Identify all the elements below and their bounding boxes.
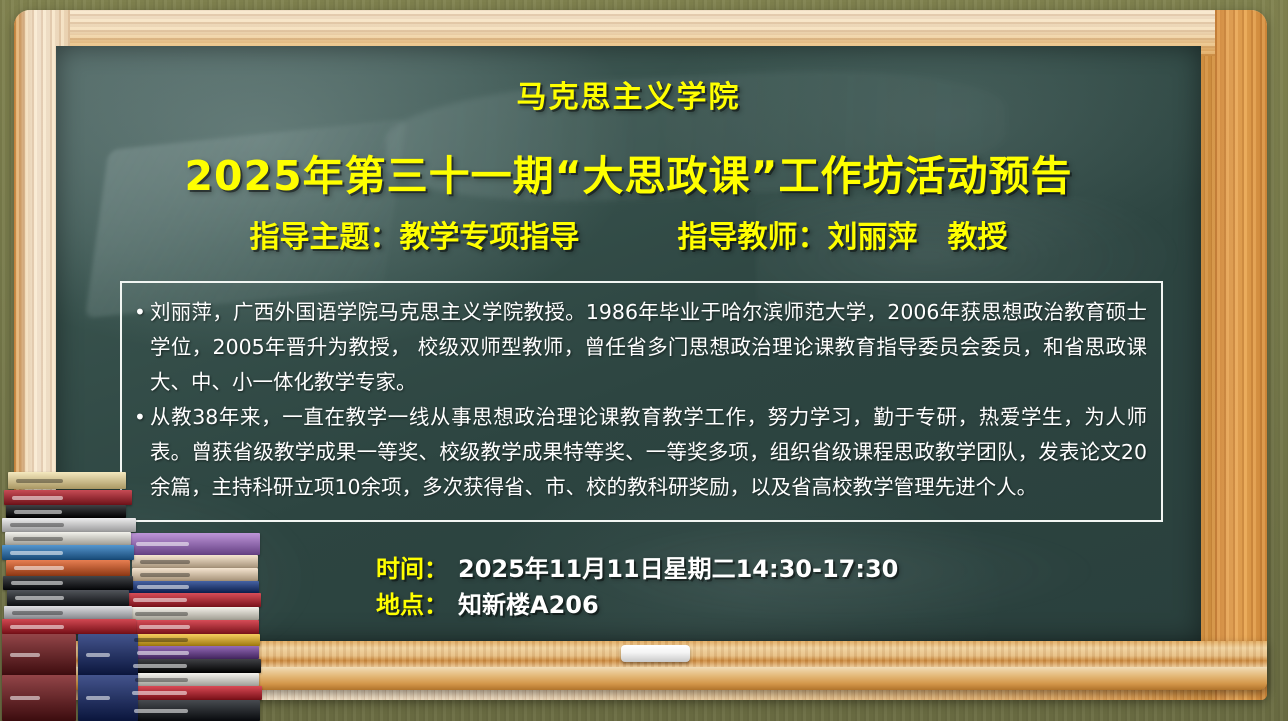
book-spine bbox=[124, 686, 262, 700]
page-title: 2025年第三十一期“大思政课”工作坊活动预告 bbox=[56, 142, 1201, 202]
organization-title: 马克思主义学院 bbox=[56, 72, 1201, 116]
event-time-value: 2025年11月11日星期二14:30-17:30 bbox=[458, 551, 898, 587]
event-time-label: 时间： bbox=[376, 551, 448, 587]
book-spine bbox=[7, 590, 129, 606]
event-location-row: 地点： 知新楼A206 bbox=[376, 587, 898, 623]
book-spine bbox=[127, 607, 259, 620]
subtitle-topic: 指导主题：教学专项指导 bbox=[250, 212, 580, 256]
book-spine bbox=[125, 593, 261, 607]
list-item: • 从教38年来，一直在教学一线从事思想政治理论课教育教学工作，努力学习，勤于专… bbox=[134, 400, 1147, 505]
book-spine bbox=[132, 555, 258, 568]
event-details: 时间： 2025年11月11日星期二14:30-17:30 地点： 知新楼A20… bbox=[376, 551, 898, 623]
book-spine bbox=[3, 576, 133, 590]
book-spine bbox=[132, 568, 258, 581]
book-spine bbox=[2, 518, 136, 532]
book-spine bbox=[78, 634, 138, 676]
bullet-icon: • bbox=[134, 295, 150, 330]
chalk-stick-icon bbox=[621, 645, 690, 662]
biography-box: • 刘丽萍，广西外国语学院马克思主义学院教授。1986年毕业于哈尔滨师范大学，2… bbox=[120, 281, 1163, 522]
book-spine bbox=[129, 646, 259, 659]
event-location-label: 地点： bbox=[376, 587, 448, 623]
event-time-row: 时间： 2025年11月11日星期二14:30-17:30 bbox=[376, 551, 898, 587]
book-spine bbox=[131, 620, 259, 634]
book-spine bbox=[2, 634, 76, 676]
book-spine bbox=[2, 675, 76, 721]
book-spine bbox=[128, 533, 260, 555]
book-spine bbox=[4, 490, 132, 505]
subtitle-teacher: 指导教师：刘丽萍 教授 bbox=[678, 212, 1008, 256]
book-spine bbox=[2, 619, 136, 634]
bullet-icon: • bbox=[134, 400, 150, 435]
list-item: • 刘丽萍，广西外国语学院马克思主义学院教授。1986年毕业于哈尔滨师范大学，2… bbox=[134, 295, 1147, 400]
book-spine bbox=[6, 505, 126, 518]
event-location-value: 知新楼A206 bbox=[458, 587, 599, 623]
book-spine bbox=[6, 560, 130, 576]
book-stack-decoration bbox=[0, 471, 255, 721]
book-spine bbox=[126, 700, 260, 721]
book-spine bbox=[5, 532, 131, 545]
book-spine bbox=[8, 472, 126, 489]
subtitle-row: 指导主题：教学专项指导 指导教师：刘丽萍 教授 bbox=[56, 212, 1201, 256]
book-spine bbox=[125, 659, 261, 673]
biography-paragraph-1: 刘丽萍，广西外国语学院马克思主义学院教授。1986年毕业于哈尔滨师范大学，200… bbox=[150, 295, 1147, 400]
poster-canvas: 马克思主义学院 2025年第三十一期“大思政课”工作坊活动预告 指导主题：教学专… bbox=[0, 0, 1288, 721]
book-spine bbox=[4, 606, 132, 619]
book-spine bbox=[126, 634, 260, 646]
book-spine bbox=[2, 545, 134, 560]
book-spine bbox=[127, 673, 259, 686]
book-spine bbox=[129, 581, 259, 593]
book-spine bbox=[78, 675, 138, 721]
biography-paragraph-2: 从教38年来，一直在教学一线从事思想政治理论课教育教学工作，努力学习，勤于专研，… bbox=[150, 400, 1147, 505]
frame-right-plank bbox=[1215, 10, 1267, 700]
